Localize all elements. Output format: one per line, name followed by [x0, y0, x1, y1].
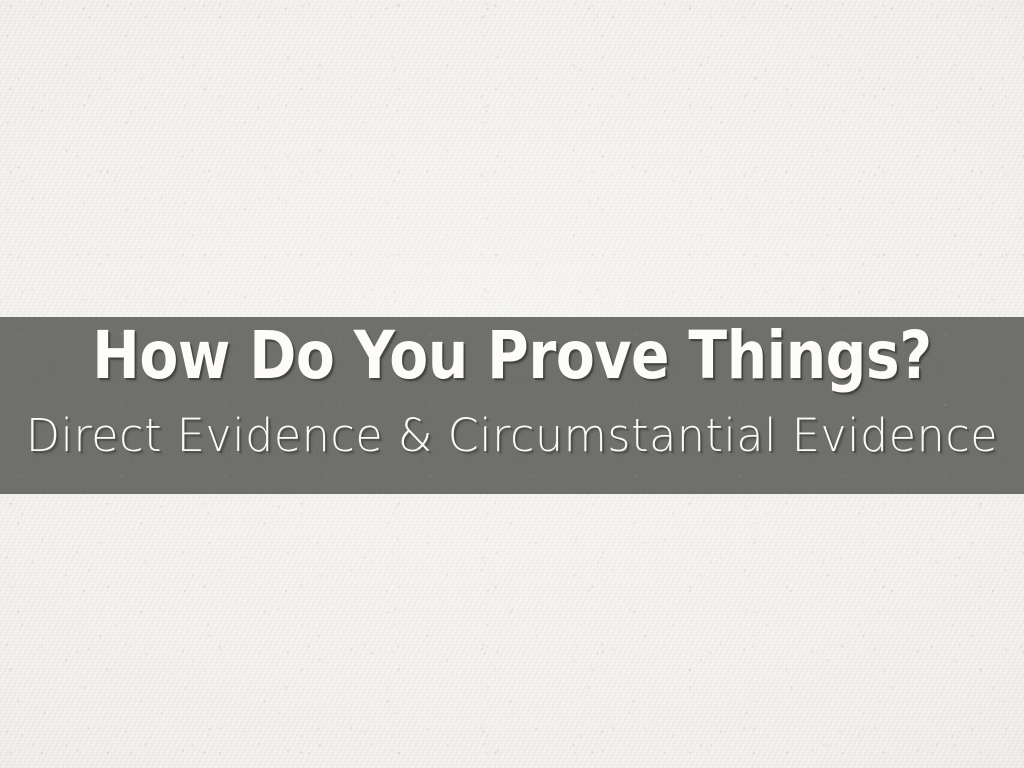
- slide-headline: How Do You Prove Things?: [72, 323, 953, 389]
- title-banner: How Do You Prove Things? Direct Evidence…: [0, 317, 1024, 494]
- presentation-slide: How Do You Prove Things? Direct Evidence…: [0, 0, 1024, 768]
- banner-content: How Do You Prove Things? Direct Evidence…: [0, 317, 1024, 494]
- slide-subtitle: Direct Evidence & Circumstantial Evidenc…: [8, 413, 1017, 458]
